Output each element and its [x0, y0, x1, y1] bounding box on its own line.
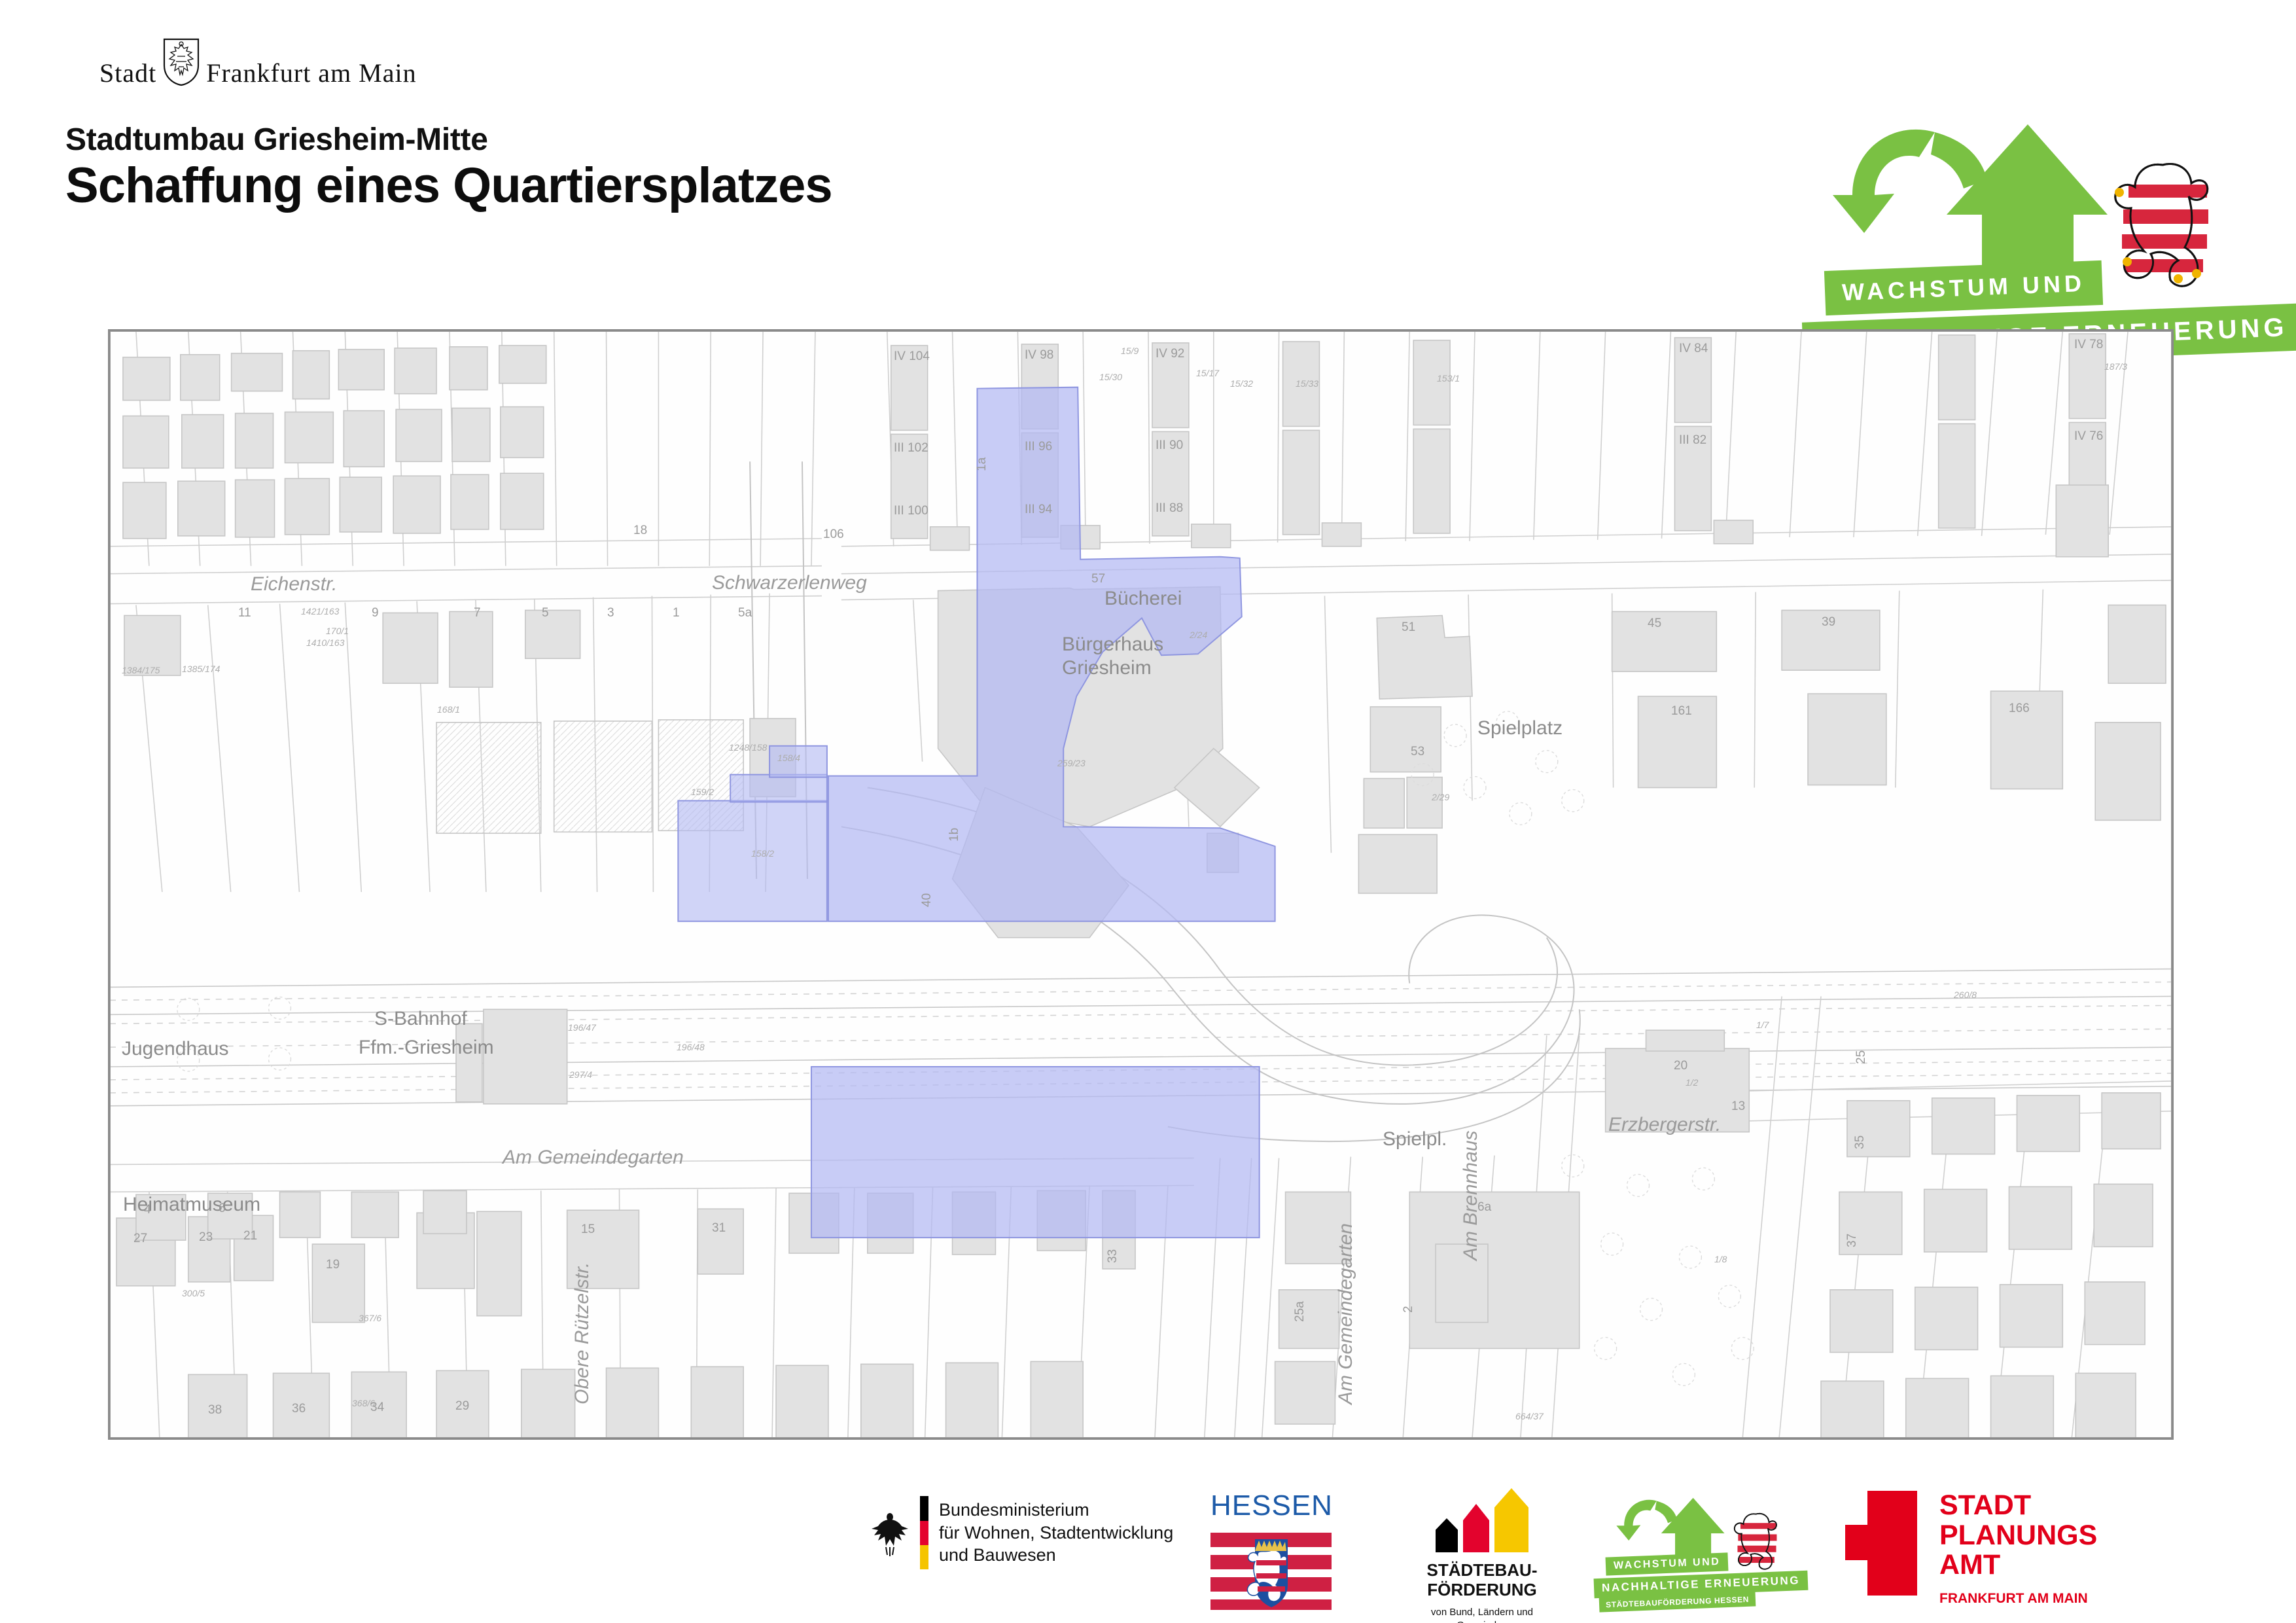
- building-number: 39: [1822, 615, 1835, 630]
- house-red-icon: [1463, 1504, 1489, 1552]
- parcel-number: 196/48: [677, 1042, 705, 1052]
- building-number: 45: [1648, 616, 1661, 631]
- building-number: 1: [673, 606, 680, 620]
- parcel-number: 159/2: [691, 787, 714, 797]
- building-number: 25: [1854, 1050, 1869, 1064]
- parcel-number: 297/4: [569, 1069, 592, 1080]
- house-black-icon: [1436, 1518, 1458, 1552]
- house-number: IV 104: [894, 349, 930, 364]
- street-label-eichenstr: Eichenstr.: [251, 573, 337, 596]
- federal-eagle-icon: [870, 1508, 910, 1558]
- building-number: 161: [1671, 704, 1692, 719]
- building-number: 9: [372, 606, 379, 620]
- building-number: 6: [219, 1202, 226, 1216]
- building-number: 37: [1845, 1234, 1860, 1247]
- building-number: 5a: [738, 606, 752, 620]
- parcel-number: 1421/163: [301, 606, 339, 616]
- building-number: 11: [238, 606, 251, 620]
- parcel-number: 300/5: [182, 1288, 205, 1298]
- building-number: 31: [712, 1221, 726, 1236]
- building-number: 29: [455, 1399, 469, 1414]
- parcel-number: 1384/175: [122, 665, 160, 675]
- staedtebau-line1: STÄDTEBAU-: [1400, 1560, 1564, 1580]
- poster-page: Stadt Frankfurt am Main Stadtumbau Gries…: [0, 0, 2296, 1623]
- parcel-number: 2/29: [1432, 792, 1449, 802]
- house-number: III 82: [1679, 433, 1706, 448]
- building-number: 18: [633, 524, 647, 538]
- staedtebau-line2: FÖRDERUNG: [1400, 1580, 1564, 1599]
- house-number: IV 84: [1679, 342, 1708, 356]
- house-number: III 100: [894, 504, 928, 518]
- stadtplanungsamt-wordmark: STADT PLANUNGS AMT FRANKFURT AM MAIN: [1939, 1491, 2097, 1607]
- parcel-number: 1/7: [1756, 1020, 1769, 1030]
- house-number: III 90: [1156, 438, 1183, 453]
- building-number: 25a: [1293, 1301, 1307, 1322]
- parcel-number: 15/32: [1230, 378, 1253, 389]
- building-number: 3: [607, 606, 614, 620]
- parcel-number: 1385/174: [182, 664, 220, 674]
- parcel-number: 1248/158: [729, 742, 767, 753]
- house-number: III 96: [1025, 440, 1052, 454]
- building-number: 5: [542, 606, 549, 620]
- poi-s-bahnhof: S-Bahnhof: [374, 1008, 467, 1030]
- parcel-number: 170/1: [326, 626, 349, 636]
- poi-buergerhaus: Bürgerhaus: [1062, 633, 1163, 656]
- parcel-number: 187/3: [2104, 361, 2127, 372]
- building-number: 7: [474, 606, 481, 620]
- street-label-am-gemeindegarten-east: Am Gemeindegarten: [1335, 1223, 1357, 1404]
- building-number: 13: [1731, 1099, 1745, 1114]
- spa-line2: PLANUNGS: [1939, 1521, 2097, 1551]
- parcel-number: 158/2: [751, 848, 774, 859]
- parcel-number: 1/8: [1714, 1254, 1727, 1264]
- parcel-number: 1/2: [1686, 1077, 1698, 1088]
- building-number: 36: [292, 1402, 306, 1416]
- parcel-number: 1410/163: [306, 637, 344, 648]
- three-houses-icon: [1400, 1488, 1564, 1552]
- building-number: 27: [133, 1232, 147, 1246]
- hessen-lion-icon: [2100, 154, 2215, 292]
- parcel-number: 168/1: [437, 704, 460, 715]
- staedtebau-sub2: Gemeinden: [1400, 1619, 1564, 1623]
- building-number: 1b: [947, 828, 962, 842]
- poi-griesheim: Griesheim: [1062, 657, 1152, 679]
- spa-line3: AMT: [1939, 1550, 2097, 1580]
- building-number: 4: [144, 1203, 151, 1217]
- building-number: 20: [1674, 1059, 1687, 1073]
- parcel-number: 2/24: [1190, 630, 1207, 640]
- building-number: 21: [243, 1229, 257, 1243]
- footer-logo-bar: Bundesministerium für Wohnen, Stadtentwi…: [0, 1484, 2296, 1609]
- building-number: 19: [326, 1258, 340, 1272]
- street-label-erzbergerstr: Erzbergerstr.: [1608, 1114, 1721, 1136]
- building-number: 57: [1091, 572, 1105, 586]
- staedtebau-title: STÄDTEBAU- FÖRDERUNG: [1400, 1560, 1564, 1599]
- staedtebau-sub1: von Bund, Ländern und: [1400, 1606, 1564, 1619]
- building-number: 51: [1402, 620, 1415, 635]
- building-number: 53: [1411, 745, 1424, 759]
- frankfurt-eagle-shield-icon: [163, 38, 200, 86]
- cadastral-map[interactable]: Eichenstr. Schwarzerlenweg Erzbergerstr.…: [108, 329, 2174, 1440]
- logo-hessen: HESSEN: [1210, 1489, 1332, 1610]
- logo-program-footer: WACHSTUM UND NACHHALTIGE ERNEUERUNG STÄD…: [1603, 1495, 1793, 1599]
- poi-spielpl: Spielpl.: [1383, 1128, 1447, 1150]
- bmwsb-line3: und Bauwesen: [939, 1544, 1173, 1567]
- parcel-number: 367/6: [359, 1313, 381, 1323]
- parcel-number: 158/4: [777, 753, 800, 763]
- bmwsb-text: Bundesministerium für Wohnen, Stadtentwi…: [939, 1499, 1173, 1567]
- house-number: III 88: [1156, 501, 1183, 516]
- page-title: Schaffung eines Quartiersplatzes: [65, 157, 832, 214]
- subtitle-kicker: Stadtumbau Griesheim-Mitte: [65, 122, 488, 158]
- program-band-line1: WACHSTUM UND: [1606, 1552, 1729, 1575]
- building-number: 6a: [1477, 1200, 1491, 1215]
- spa-subtitle: FRANKFURT AM MAIN: [1939, 1591, 2097, 1607]
- house-number: III 94: [1025, 503, 1052, 517]
- logo-stadtplanungsamt: STADT PLANUNGS AMT FRANKFURT AM MAIN: [1845, 1491, 2097, 1607]
- parcel-number: 15/17: [1196, 368, 1219, 378]
- house-gold-icon: [1494, 1488, 1528, 1552]
- street-label-am-gemeindegarten-west: Am Gemeindegarten: [503, 1147, 684, 1169]
- bmwsb-line2: für Wohnen, Stadtentwicklung: [939, 1522, 1173, 1544]
- parcel-number: 15/30: [1099, 372, 1122, 382]
- hessen-lion-icon: [1727, 1509, 1780, 1572]
- building-number: 35: [1853, 1135, 1867, 1149]
- building-number: 166: [2009, 702, 2030, 716]
- building-number: 38: [208, 1403, 222, 1418]
- parcel-number: 15/9: [1121, 346, 1139, 356]
- building-number: 106: [823, 527, 844, 542]
- parcel-number: 260/8: [1954, 990, 1977, 1000]
- building-number: 40: [920, 893, 934, 907]
- street-label-schwarzerlenweg: Schwarzerlenweg: [712, 572, 867, 594]
- parcel-number: 259/23: [1057, 758, 1086, 768]
- building-number: 23: [199, 1230, 213, 1245]
- street-label-am-brennhaus: Am Brennhaus: [1460, 1131, 1482, 1260]
- map-vector-layer: [110, 331, 2172, 1438]
- hessen-wordmark: HESSEN: [1210, 1489, 1332, 1522]
- street-label-obere-ruetzelstr: Obere Rützelstr.: [571, 1262, 593, 1404]
- hessen-lion-shield: [1210, 1525, 1332, 1610]
- house-number: III 102: [894, 441, 928, 455]
- parcel-number: 153/1: [1437, 373, 1460, 383]
- house-number: IV 76: [2074, 429, 2103, 444]
- poi-buecherei: Bücherei: [1104, 588, 1182, 610]
- bmwsb-line1: Bundesministerium: [939, 1499, 1173, 1522]
- stadtplanungsamt-mark-icon: [1845, 1491, 1917, 1596]
- logo-staedtebaufoerderung: STÄDTEBAU- FÖRDERUNG von Bund, Ländern u…: [1400, 1488, 1564, 1623]
- poi-spielplatz: Spielplatz: [1477, 717, 1563, 740]
- building-number: 1a: [975, 457, 989, 471]
- house-number: IV 92: [1156, 347, 1184, 361]
- german-flag-bar-icon: [920, 1496, 928, 1569]
- parcel-number: 664/37: [1515, 1411, 1544, 1421]
- building-number: 34: [370, 1400, 384, 1415]
- house-number: IV 98: [1025, 348, 1053, 363]
- building-number: 2: [1402, 1306, 1416, 1313]
- staedtebau-subtitle: von Bund, Ländern und Gemeinden: [1400, 1606, 1564, 1623]
- parcel-number: 196/47: [568, 1022, 596, 1033]
- poi-jugendhaus: Jugendhaus: [122, 1038, 228, 1060]
- logo-bundesministerium: Bundesministerium für Wohnen, Stadtentwi…: [870, 1496, 1173, 1569]
- parcel-number: 15/33: [1296, 378, 1318, 389]
- spa-line1: STADT: [1939, 1491, 2097, 1521]
- building-number: 33: [1106, 1249, 1120, 1263]
- city-crest-wordmark: Stadt Frankfurt am Main: [99, 38, 417, 86]
- crest-text-frankfurt: Frankfurt am Main: [206, 60, 416, 86]
- hessen-shield-icon: [1210, 1525, 1332, 1610]
- house-number: IV 78: [2074, 338, 2103, 352]
- building-number: 15: [581, 1222, 595, 1237]
- poi-ffm-griesheim: Ffm.-Griesheim: [359, 1037, 494, 1059]
- crest-text-stadt: Stadt: [99, 60, 156, 86]
